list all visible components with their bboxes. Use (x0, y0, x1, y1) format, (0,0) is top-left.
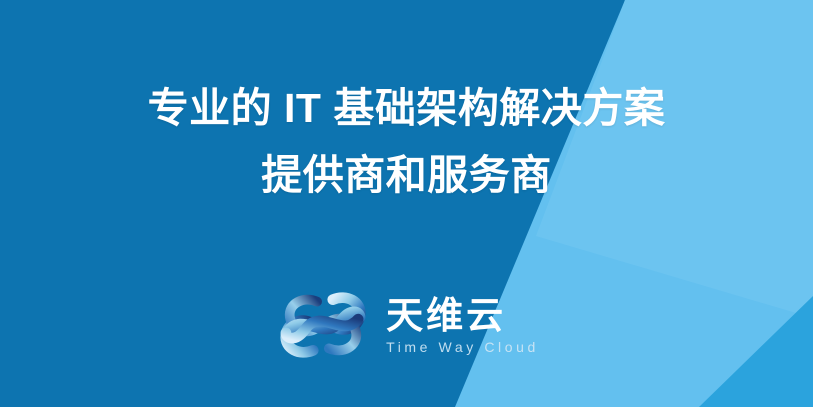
headline: 专业的 IT 基础架构解决方案 提供商和服务商 (0, 88, 813, 196)
headline-line-1: 专业的 IT 基础架构解决方案 (0, 88, 813, 129)
promo-banner: 专业的 IT 基础架构解决方案 提供商和服务商 (0, 0, 813, 407)
brand-logo: 天维云 Time Way Cloud (0, 286, 813, 364)
interlocking-cloud-infinity-logo-icon (274, 286, 372, 364)
banner-content: 专业的 IT 基础架构解决方案 提供商和服务商 (0, 0, 813, 407)
headline-line-2: 提供商和服务商 (0, 155, 813, 196)
brand-name-cn: 天维云 (386, 297, 506, 336)
brand-logotype: 天维云 Time Way Cloud (386, 295, 539, 356)
brand-name-en: Time Way Cloud (386, 339, 539, 356)
